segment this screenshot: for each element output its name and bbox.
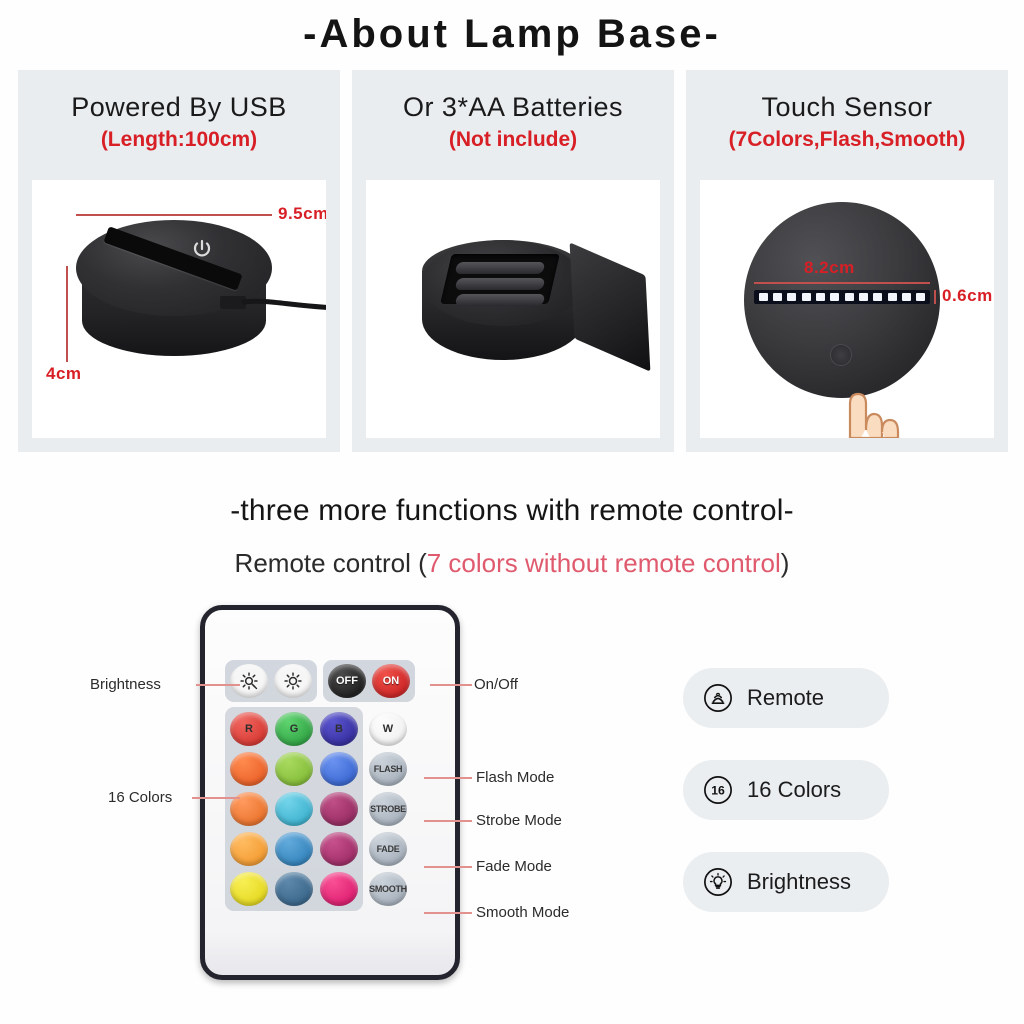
callout-line-strobe <box>424 820 472 822</box>
callout-flash-mode: Flash Mode <box>476 769 554 786</box>
fade-mode-button[interactable]: FADE <box>369 832 407 866</box>
keypad-rows-colors: R G B W <box>225 707 437 911</box>
feature-pill-remote[interactable]: Remote <box>683 668 889 728</box>
battery-cell <box>455 262 546 274</box>
section-subtitle: Remote control (7 colors without remote … <box>0 548 1024 579</box>
flash-mode-button[interactable]: FLASH <box>369 752 407 786</box>
pointing-hand-icon <box>820 352 916 438</box>
feature-label: Brightness <box>747 869 851 895</box>
subtitle-suffix: ) <box>781 548 790 578</box>
battery-cell <box>455 294 546 306</box>
led <box>816 293 825 301</box>
led <box>830 293 839 301</box>
panel-subheading: (Length:100cm) <box>18 128 340 152</box>
power-tray: OFF ON <box>323 660 415 702</box>
power-icon <box>190 237 214 261</box>
strobe-mode-button[interactable]: STROBE <box>369 792 407 826</box>
panel-subheading: (Not include) <box>352 128 674 152</box>
panel-heading: Powered By USB <box>18 92 340 123</box>
panel-touch-sensor: Touch Sensor (7Colors,Flash,Smooth) 8.2c… <box>686 70 1008 452</box>
strip-height-line <box>934 290 936 304</box>
callout-line-flash <box>424 777 472 779</box>
panel-aa-batteries: Or 3*AA Batteries (Not include) <box>352 70 674 452</box>
led <box>916 293 925 301</box>
keypad-row-power: OFF ON <box>225 660 437 702</box>
lamp-base-top-view: 8.2cm <box>744 202 944 402</box>
callout-line-brightness <box>196 684 240 686</box>
smooth-mode-button[interactable]: SMOOTH <box>369 872 407 906</box>
remote-keypad: OFF ON R G B <box>225 660 437 916</box>
color-button[interactable] <box>275 832 313 866</box>
width-dimension-line <box>76 214 272 216</box>
led <box>759 293 768 301</box>
remote-signal-icon <box>703 683 733 713</box>
feature-pill-16-colors[interactable]: 16 16 Colors <box>683 760 889 820</box>
brightness-down-icon <box>283 671 303 691</box>
infographic-page: -About Lamp Base- Powered By USB (Length… <box>0 0 1024 1024</box>
color-button-r[interactable]: R <box>230 712 268 746</box>
page-title: -About Lamp Base- <box>0 12 1024 57</box>
usb-cable-icon <box>220 290 326 316</box>
sixteen-circle-icon: 16 <box>703 775 733 805</box>
color-button[interactable] <box>320 752 358 786</box>
color-button[interactable] <box>275 752 313 786</box>
feature-label: Remote <box>747 685 824 711</box>
callout-fade-mode: Fade Mode <box>476 858 552 875</box>
brightness-down-button[interactable] <box>274 664 312 698</box>
subtitle-highlight: 7 colors without remote control <box>427 548 781 578</box>
led <box>902 293 911 301</box>
battery-door <box>570 242 651 371</box>
color-button-b[interactable]: B <box>320 712 358 746</box>
mode-column: W FLASH STROBE FADE SMOOTH <box>369 707 407 906</box>
lightbulb-icon <box>703 867 733 897</box>
svg-text:16: 16 <box>711 784 725 798</box>
led <box>888 293 897 301</box>
white-button[interactable]: W <box>369 712 407 746</box>
callout-on-off: On/Off <box>474 676 518 693</box>
led <box>845 293 854 301</box>
color-button[interactable] <box>275 792 313 826</box>
strip-height-label: 0.6cm <box>942 286 993 306</box>
usb-base-image: 9.5cm 4cm <box>32 180 326 438</box>
strip-width-label: 8.2cm <box>804 258 855 278</box>
led <box>787 293 796 301</box>
feature-pills: Remote 16 16 Colors Brightness <box>683 668 889 944</box>
color-button[interactable] <box>320 792 358 826</box>
led <box>773 293 782 301</box>
panel-heading: Or 3*AA Batteries <box>352 92 674 123</box>
callout-brightness: Brightness <box>90 676 161 693</box>
feature-panels: Powered By USB (Length:100cm) 9.5cm 4cm <box>18 70 1008 452</box>
panel-subheading: (7Colors,Flash,Smooth) <box>686 128 1008 152</box>
callout-strobe-mode: Strobe Mode <box>476 812 562 829</box>
on-button[interactable]: ON <box>372 664 410 698</box>
width-dimension-label: 9.5cm <box>278 204 326 224</box>
battery-compartment-image <box>366 180 660 438</box>
subtitle-prefix: Remote control ( <box>235 548 427 578</box>
color-button[interactable] <box>320 872 358 906</box>
remote-control[interactable]: OFF ON R G B <box>200 605 460 980</box>
brightness-tray <box>225 660 317 702</box>
led <box>859 293 868 301</box>
callout-smooth-mode: Smooth Mode <box>476 904 569 921</box>
color-button[interactable] <box>230 752 268 786</box>
led <box>802 293 811 301</box>
brightness-up-button[interactable] <box>230 664 268 698</box>
battery-cell <box>455 278 546 290</box>
height-dimension-line <box>66 266 68 362</box>
callout-line-16-colors <box>192 797 240 799</box>
section-title: -three more functions with remote contro… <box>0 494 1024 528</box>
color-button[interactable] <box>230 872 268 906</box>
color-button[interactable] <box>230 832 268 866</box>
color-grid: R G B <box>225 707 363 911</box>
callout-line-smooth <box>424 912 472 914</box>
feature-label: 16 Colors <box>747 777 841 803</box>
color-button-g[interactable]: G <box>275 712 313 746</box>
brightness-up-icon <box>239 671 259 691</box>
panel-heading: Touch Sensor <box>686 92 1008 123</box>
color-button[interactable] <box>320 832 358 866</box>
battery-base <box>404 216 634 386</box>
off-button[interactable]: OFF <box>328 664 366 698</box>
led-strip <box>754 290 930 304</box>
callout-line-onoff <box>430 684 472 686</box>
callout-line-fade <box>424 866 472 868</box>
touch-sensor-image: 8.2cm <box>700 180 994 438</box>
panel-powered-by-usb: Powered By USB (Length:100cm) 9.5cm 4cm <box>18 70 340 452</box>
strip-width-line <box>754 282 930 284</box>
led <box>873 293 882 301</box>
callout-16-colors: 16 Colors <box>108 789 172 806</box>
feature-pill-brightness[interactable]: Brightness <box>683 852 889 912</box>
color-button[interactable] <box>275 872 313 906</box>
